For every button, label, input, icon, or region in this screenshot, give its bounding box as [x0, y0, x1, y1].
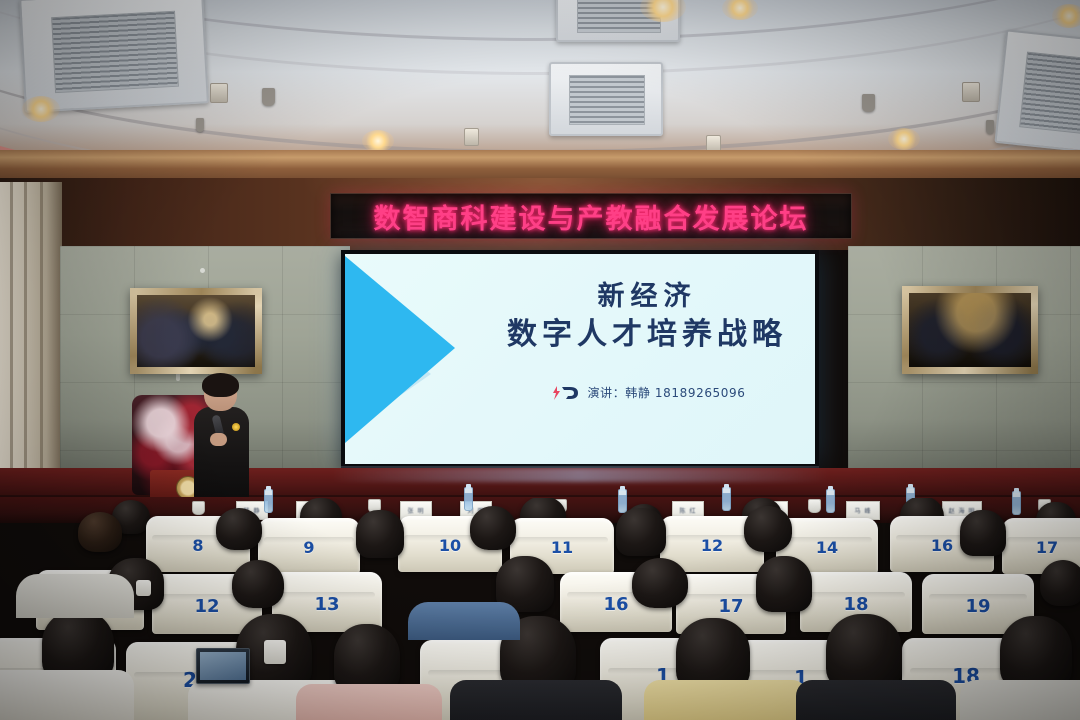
ceiling-fixture — [210, 83, 228, 103]
recessed-downlight — [362, 130, 394, 152]
attendee-shoulders — [408, 602, 520, 640]
attendee-head — [616, 508, 666, 556]
audience-area: 8 9 10 11 12 14 16 17 — [0, 498, 1080, 720]
attendee-head — [470, 506, 516, 550]
slide-title-line2: 数字人才培养战略 — [475, 315, 815, 354]
presenter-hand — [210, 433, 227, 446]
laptop[interactable] — [196, 648, 250, 684]
attendee-head — [632, 558, 688, 608]
framed-photo-right — [902, 286, 1038, 374]
photo-content — [909, 293, 1031, 367]
attendee-shoulders — [450, 680, 622, 720]
ceiling — [0, 0, 1080, 172]
attendee-head — [232, 560, 284, 608]
chevron-accent-shape — [345, 256, 455, 443]
attendee-head — [1040, 560, 1080, 606]
attendee-shoulders — [296, 684, 442, 720]
attendee-head — [826, 614, 902, 690]
hair-clip — [136, 580, 151, 596]
chevron-notch — [415, 358, 429, 370]
wall-light-dot — [200, 268, 205, 273]
attendee-head — [744, 506, 792, 552]
ceiling-sensor — [986, 120, 994, 134]
lapel-pin-icon — [232, 423, 240, 431]
presenter-body — [194, 407, 249, 502]
ac-vent-icon — [549, 62, 663, 136]
presenter-hair — [202, 373, 239, 397]
slide-title-block: 新经济 数字人才培养战略 — [475, 280, 815, 354]
attendee-shoulders — [796, 680, 956, 720]
presenter — [190, 375, 252, 500]
left-wall-pillar — [0, 182, 62, 482]
attendee-shoulders — [960, 680, 1080, 720]
framed-photo-left — [130, 288, 262, 374]
ceiling-fixture — [464, 128, 479, 146]
attendee-shoulders — [0, 670, 134, 720]
stage-light-glow — [330, 468, 830, 482]
banner-title: 数智商科建设与产教融合发展论坛 — [374, 197, 809, 236]
attendee-head — [1000, 616, 1072, 690]
ceiling-sensor — [196, 118, 204, 132]
attendee-head — [756, 556, 812, 612]
hair-clip — [264, 640, 286, 664]
recessed-downlight — [22, 96, 60, 122]
attendee-shoulders — [644, 680, 808, 720]
event-banner: 数智商科建设与产教融合发展论坛 — [330, 193, 852, 239]
attendee-head — [216, 508, 262, 550]
attendee-shoulders — [16, 574, 134, 618]
lightning-d-logo-icon — [551, 385, 581, 401]
recessed-downlight — [1052, 4, 1080, 28]
ceiling-fixture — [962, 82, 980, 102]
attendee-head — [78, 512, 122, 552]
wall-washer-light — [862, 94, 875, 112]
wall-washer-light — [262, 88, 275, 106]
conference-hall-photo: 数智商科建设与产教融合发展论坛 新经济 数字人才培养战略 — [0, 0, 1080, 720]
slide-title-line1: 新经济 — [475, 280, 815, 315]
photo-content — [137, 295, 255, 367]
attendee-head — [960, 510, 1006, 556]
slide-byline: 演讲：韩静 18189265096 — [483, 384, 813, 401]
recessed-downlight — [888, 128, 920, 150]
presentation-slide: 新经济 数字人才培养战略 演讲：韩静 18189265096 — [345, 254, 815, 464]
projection-screen: 新经济 数字人才培养战略 演讲：韩静 18189265096 — [341, 250, 819, 468]
ac-vent-icon — [994, 29, 1080, 156]
presenter-info: 演讲：韩静 18189265096 — [588, 384, 746, 401]
attendee-head — [356, 510, 404, 558]
